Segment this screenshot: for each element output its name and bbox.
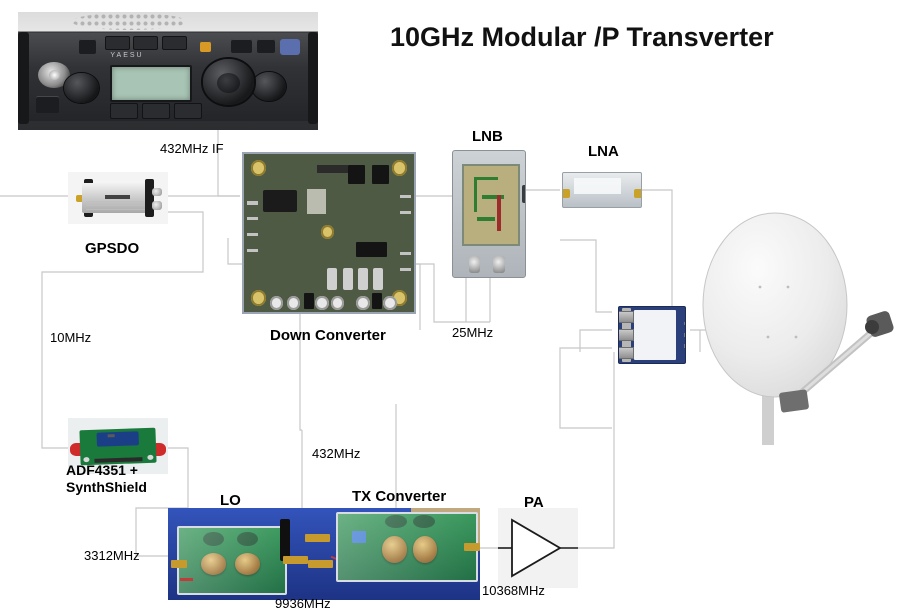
sma-port-6 xyxy=(383,296,397,310)
filter-cap-4 xyxy=(373,268,383,290)
gpsdo-output-1 xyxy=(152,188,162,197)
edge-pin-r4 xyxy=(400,268,410,271)
lna-output-sma xyxy=(634,189,642,198)
ic-soic xyxy=(356,242,387,256)
lnb-trace-5 xyxy=(477,217,495,221)
transverter-block-diagram: 10GHz Modular /P Transverter YAESU xyxy=(0,0,900,612)
clar-button xyxy=(36,96,59,113)
adf-screw-right xyxy=(147,455,153,460)
lnb-f-connector-1 xyxy=(469,256,481,274)
lcd-display xyxy=(110,65,192,102)
voltage-regulator-2 xyxy=(372,293,382,309)
pin-header-top xyxy=(317,165,348,173)
tx-output-sma xyxy=(464,543,480,551)
sma-port-5 xyxy=(356,296,370,310)
mount-hole-tl xyxy=(251,160,266,176)
arduino-shield xyxy=(96,431,139,446)
gpsdo-enclosure xyxy=(82,183,154,212)
idc-connector xyxy=(307,189,326,214)
lnb-f-connector-2 xyxy=(493,256,505,274)
lnb-waveguide-stub xyxy=(522,185,526,203)
lnb-trace-4 xyxy=(497,195,500,231)
relay-label-face xyxy=(634,310,676,359)
signal-label-432mhz-if: 432MHz IF xyxy=(160,142,224,157)
transceiver-photo: YAESU xyxy=(18,12,318,130)
relay-coil-pin-1 xyxy=(684,322,686,326)
left-bumper xyxy=(18,32,29,124)
brand-text: YAESU xyxy=(110,52,143,59)
speaker-grill xyxy=(72,13,186,30)
lo-label: LO xyxy=(220,492,241,509)
signal-label-9936mhz: 9936MHz xyxy=(275,597,331,612)
lnb-trace-2 xyxy=(474,177,477,213)
lnb-trace-1 xyxy=(474,177,499,181)
lna-input-sma xyxy=(562,189,570,198)
sma-port-1 xyxy=(270,296,284,310)
sma-port-3 xyxy=(315,296,329,310)
pwr-button xyxy=(257,39,274,53)
main-tuning-dial xyxy=(203,59,255,104)
blue-button xyxy=(280,39,300,55)
sql-knob xyxy=(64,73,99,103)
lnb-photo xyxy=(452,150,526,278)
pa-label: PA xyxy=(524,494,544,511)
gpsdo-label: GPSDO xyxy=(85,240,139,257)
gpsdo-photo xyxy=(68,172,168,224)
right-bumper xyxy=(308,32,319,124)
amber-indicator xyxy=(200,41,212,52)
down-converter-photo xyxy=(242,152,416,314)
gpsdo-brand-logo xyxy=(105,195,129,199)
mount-hole-center xyxy=(321,225,335,239)
gpsdo-output-2 xyxy=(152,201,162,210)
down-converter-label: Down Converter xyxy=(270,327,386,344)
filter-cap-2 xyxy=(343,268,353,290)
interconnect-sma-1 xyxy=(283,556,308,564)
soft-key-a xyxy=(110,103,138,119)
dish-antenna-photo xyxy=(700,205,900,445)
tx-converter-label: TX Converter xyxy=(352,488,446,505)
pa-symbol-box xyxy=(498,508,578,588)
tx-converter-module xyxy=(336,512,477,582)
edge-pin-r1 xyxy=(400,195,410,198)
edge-pin-l2 xyxy=(247,217,257,220)
adf4351-label: ADF4351 + SynthShield xyxy=(66,462,147,496)
relay-port-1 xyxy=(618,311,634,323)
relay-port-2 xyxy=(618,329,634,341)
relay-coil-pin-2 xyxy=(684,333,686,337)
filter-cap-3 xyxy=(358,268,368,290)
edge-pin-r3 xyxy=(400,252,410,255)
edge-pin-l3 xyxy=(247,233,257,236)
page-title: 10GHz Modular /P Transverter xyxy=(390,22,774,53)
lo-clear-lid xyxy=(179,528,285,592)
mount-hole-bl xyxy=(251,290,266,306)
func-button-1 xyxy=(105,36,130,50)
relay-block-1 xyxy=(348,165,365,184)
interconnect-sma-2 xyxy=(308,560,333,568)
lnb-pcb xyxy=(462,164,519,246)
soft-key-b xyxy=(142,103,170,119)
lna-photo xyxy=(562,172,642,208)
edge-pin-l4 xyxy=(247,249,257,252)
lo-tx-converter-photo xyxy=(168,508,480,600)
pa-triangle-icon xyxy=(498,508,578,588)
lock-button xyxy=(231,39,251,53)
front-panel: YAESU xyxy=(24,33,312,120)
sma-port-2 xyxy=(287,296,301,310)
func-button-3 xyxy=(162,36,187,50)
lnb-trace-3 xyxy=(482,195,503,199)
interconnect-sma-3 xyxy=(305,534,330,542)
coax-relay-photo xyxy=(618,306,686,364)
lo-power-wire xyxy=(180,578,192,581)
shielded-oscillator-can xyxy=(263,190,297,212)
lo-input-sma xyxy=(171,560,187,568)
filter-cap-1 xyxy=(327,268,337,290)
shield-ic xyxy=(107,435,115,438)
interconnect-coax xyxy=(280,519,289,561)
signal-label-10368mhz: 10368MHz xyxy=(482,584,545,599)
signal-label-25mhz: 25MHz xyxy=(452,326,493,341)
gpsdo-endcap-right xyxy=(145,179,154,216)
relay-coil-pin-3 xyxy=(684,344,686,348)
func-button-2 xyxy=(133,36,158,50)
relay-block-2 xyxy=(372,165,389,184)
sma-port-4 xyxy=(331,296,345,310)
lnb-label: LNB xyxy=(472,128,503,145)
tx-clear-lid xyxy=(338,514,475,580)
signal-label-3312mhz: 3312MHz xyxy=(84,549,140,564)
signal-label-432mhz-tx: 432MHz xyxy=(312,447,360,462)
signal-label-10mhz: 10MHz xyxy=(50,331,91,346)
edge-pin-r2 xyxy=(400,211,410,214)
voltage-regulator-1 xyxy=(304,293,314,309)
lna-label-sticker xyxy=(574,178,621,194)
home-button xyxy=(79,39,96,54)
relay-port-3 xyxy=(618,347,634,359)
edge-pin-l1 xyxy=(247,201,257,204)
adf-pcb xyxy=(79,428,156,465)
lna-label: LNA xyxy=(588,143,619,160)
mount-hole-tr xyxy=(392,160,407,176)
soft-key-c xyxy=(174,103,202,119)
lo-module xyxy=(177,526,287,594)
af-rf-knob xyxy=(252,72,287,102)
